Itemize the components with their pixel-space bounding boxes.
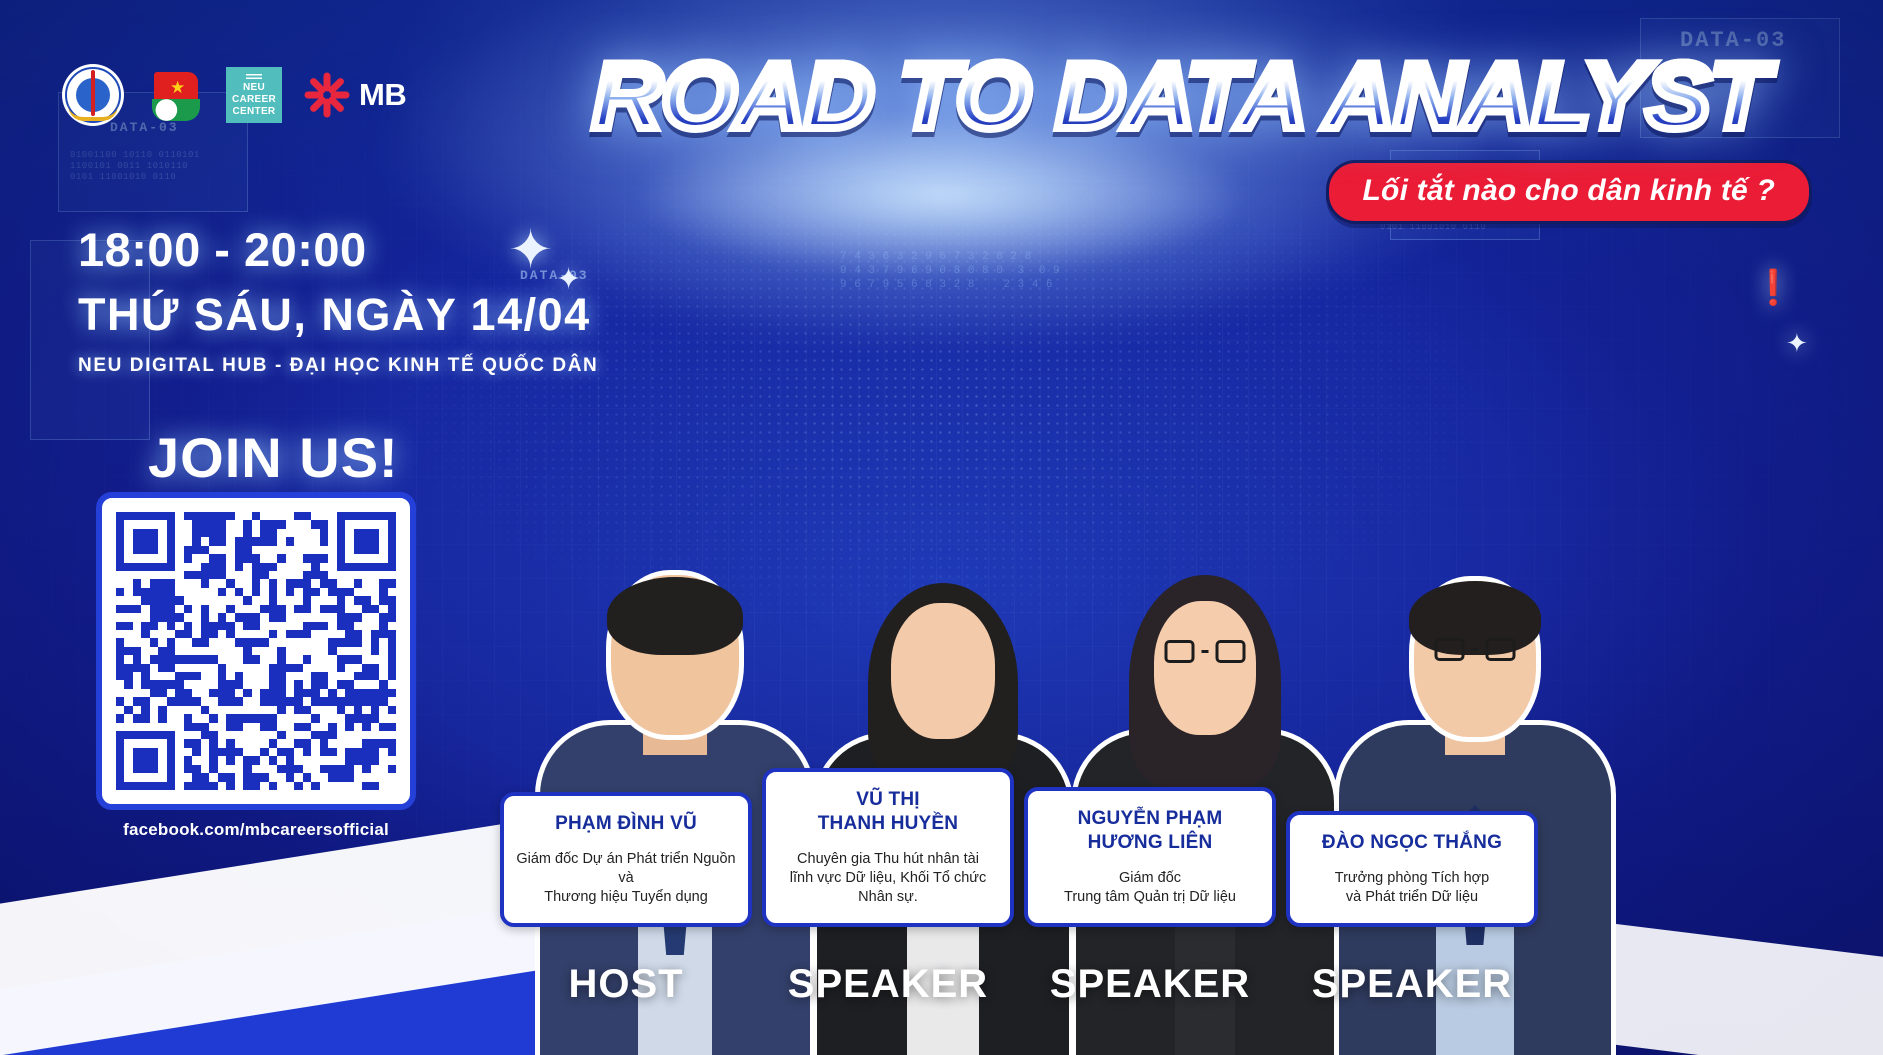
speaker-2-title: Chuyên gia Thu hút nhân tài lĩnh vực Dữ … [776,850,1000,907]
neu-career-center-logo: NEU CAREER CENTER [226,67,282,123]
speaker-3-name-line2: HƯƠNG LIÊN [1038,831,1262,855]
speaker-3-role: SPEAKER [1024,962,1276,1007]
speaker-4-title-line1: Trưởng phòng Tích hợp [1300,869,1524,888]
tagline-badge: Lối tắt nào cho dân kinh tế ? [1326,160,1812,224]
speaker-1-title-line2: Thương hiệu Tuyển dụng [514,888,738,907]
speaker-4-role: SPEAKER [1286,962,1538,1007]
lines-icon [246,74,262,81]
ncc-line3: CENTER [233,106,276,118]
speaker-3-title-line1: Giám đốc [1038,869,1262,888]
speaker-2-name: VŨ THỊ THANH HUYỀN [776,788,1000,836]
ncc-line1: NEU [243,82,265,94]
speaker-card-2: VŨ THỊ THANH HUYỀN Chuyên gia Thu hút nh… [762,768,1014,927]
speaker-card-3: NGUYỄN PHẠM HƯƠNG LIÊN Giám đốc Trung tâ… [1024,787,1276,927]
event-time: 18:00 - 20:00 [78,222,598,277]
speaker-3-glasses-icon [1165,640,1246,663]
speaker-4-glasses-icon [1435,638,1516,661]
speaker-3-name-line1: NGUYỄN PHẠM [1038,807,1262,831]
join-us-heading: JOIN US! [148,425,399,490]
speaker-3-title-line2: Trung tâm Quản trị Dữ liệu [1038,888,1262,907]
sparkle-icon: ✦ [1786,328,1808,359]
ho-chi-minh-youth-union-logo: ★ [146,66,204,124]
speaker-4-title-line2: và Phát triển Dữ liệu [1300,888,1524,907]
event-details: 18:00 - 20:00 THỨ SÁU, NGÀY 14/04 NEU DI… [78,222,598,377]
speaker-2-name-line2: THANH HUYỀN [776,812,1000,836]
speaker-3-title: Giám đốc Trung tâm Quản trị Dữ liệu [1038,869,1262,907]
ncc-line2: CAREER [232,94,276,106]
event-poster: DATA-03 DATA-03 DATA-03 01001100 10110 0… [0,0,1883,1055]
speaker-1-title-line1: Giám đốc Dự án Phát triển Nguồn và [514,850,738,888]
page-title: ROAD TO DATA ANALYST [500,48,1860,144]
speaker-4-title: Trưởng phòng Tích hợp và Phát triển Dữ l… [1300,869,1524,907]
speaker-1-role: HOST [500,962,752,1007]
speaker-4-name: ĐÀO NGỌC THẮNG [1300,831,1524,855]
mb-bank-logo: MB [304,72,406,118]
speaker-1-title: Giám đốc Dự án Phát triển Nguồn và Thươn… [514,850,738,907]
title-block: ROAD TO DATA ANALYST Lối tắt nào cho dân… [520,48,1840,224]
speaker-cards: PHẠM ĐÌNH VŨ Giám đốc Dự án Phát triển N… [0,765,1883,1055]
speaker-2-title-line1: Chuyên gia Thu hút nhân tài [776,850,1000,869]
speaker-2-name-line1: VŨ THỊ [776,788,1000,812]
speaker-3-name: NGUYỄN PHẠM HƯƠNG LIÊN [1038,807,1262,855]
speaker-1-hair [607,577,743,655]
speaker-3-face [1154,601,1256,735]
speaker-card-4: ĐÀO NGỌC THẮNG Trưởng phòng Tích hợp và … [1286,811,1538,927]
mb-star-icon [304,72,350,118]
speaker-card-1: PHẠM ĐÌNH VŨ Giám đốc Dự án Phát triển N… [500,792,752,927]
sparkle-icon: ❗ [1752,268,1794,308]
speaker-2-face [891,603,995,739]
speaker-1-name: PHẠM ĐÌNH VŨ [514,812,738,836]
qr-code[interactable] [116,512,396,790]
neu-university-logo [62,64,124,126]
qr-code-card[interactable] [96,492,416,810]
partner-logos: ★ NEU CAREER CENTER MB [62,64,406,126]
speaker-2-role: SPEAKER [762,962,1014,1007]
mb-logo-text: MB [359,77,406,113]
event-venue: NEU DIGITAL HUB - ĐẠI HỌC KINH TẾ QUỐC D… [78,355,598,377]
event-date: THỨ SÁU, NGÀY 14/04 [78,289,598,341]
speaker-2-title-line2: lĩnh vực Dữ liệu, Khối Tổ chức Nhân sự. [776,869,1000,907]
